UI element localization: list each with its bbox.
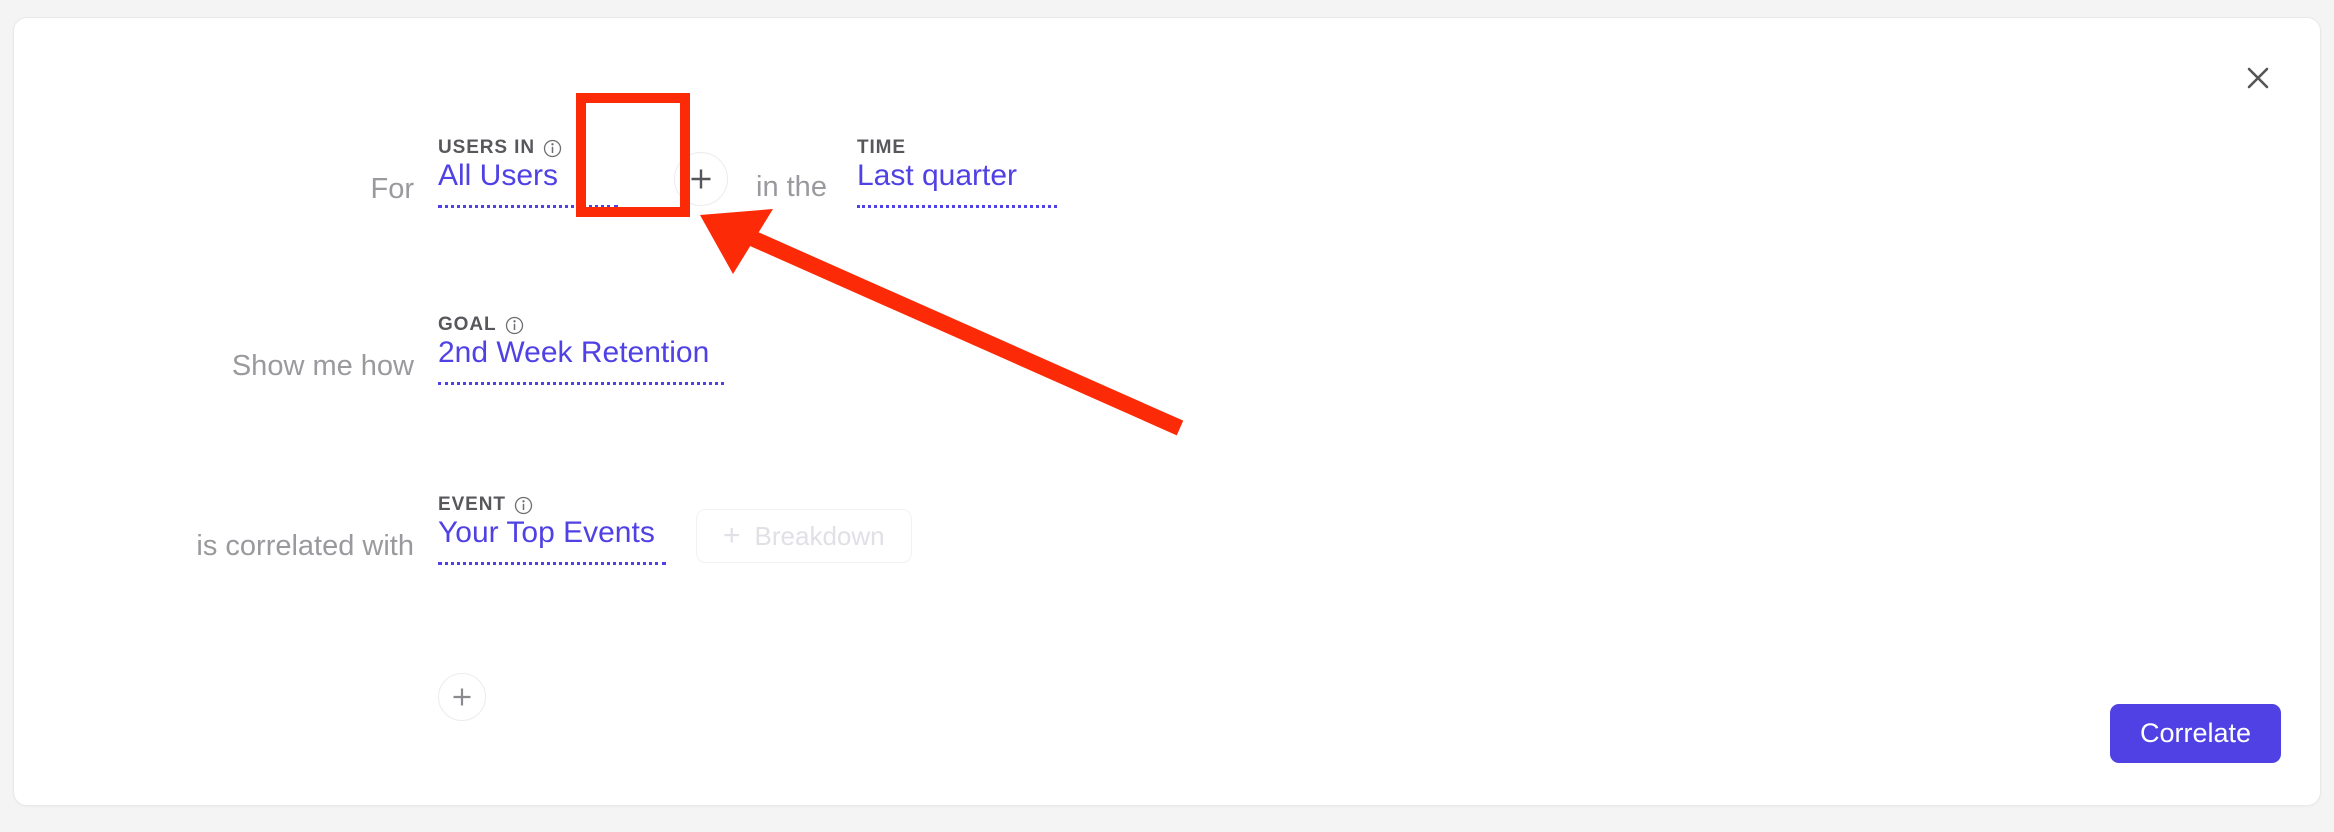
field-label-goal-text: GOAL bbox=[438, 314, 497, 336]
correlation-query-card: For USERS IN All Users bbox=[13, 17, 2321, 806]
field-value-goal[interactable]: 2nd Week Retention bbox=[438, 334, 724, 385]
field-value-time[interactable]: Last quarter bbox=[857, 157, 1057, 208]
correlate-button[interactable]: Correlate bbox=[2110, 704, 2281, 763]
field-value-event[interactable]: Your Top Events bbox=[438, 514, 666, 565]
query-row-users: For USERS IN All Users bbox=[14, 146, 1057, 208]
field-time: TIME Last quarter bbox=[857, 157, 1057, 208]
field-label-time-text: TIME bbox=[857, 137, 906, 159]
query-row-event: is correlated with EVENT Your Top Events bbox=[14, 503, 912, 565]
row-prose-show-me-how: Show me how bbox=[14, 347, 438, 385]
field-goal: GOAL 2nd Week Retention bbox=[438, 334, 724, 385]
info-icon[interactable] bbox=[505, 316, 524, 335]
field-label-users-in: USERS IN bbox=[438, 137, 562, 159]
plus-icon bbox=[450, 685, 474, 709]
field-label-time: TIME bbox=[857, 137, 906, 159]
field-label-goal: GOAL bbox=[438, 314, 524, 336]
add-breakdown-label: Breakdown bbox=[755, 521, 885, 552]
row-prose-for: For bbox=[14, 170, 438, 208]
add-users-filter-button[interactable] bbox=[674, 152, 728, 206]
field-label-event: EVENT bbox=[438, 494, 533, 516]
close-icon-glyph bbox=[2244, 64, 2272, 92]
info-icon[interactable] bbox=[514, 496, 533, 515]
query-row-goal: Show me how GOAL 2nd Week Retention bbox=[14, 323, 724, 385]
field-label-event-text: EVENT bbox=[438, 494, 506, 516]
row-prose-is-correlated-with: is correlated with bbox=[14, 527, 438, 565]
add-query-row-button[interactable] bbox=[438, 673, 486, 721]
add-query-row-wrapper bbox=[438, 673, 486, 721]
info-icon[interactable] bbox=[543, 139, 562, 158]
field-users-in: USERS IN All Users bbox=[438, 157, 618, 208]
plus-icon: + bbox=[723, 521, 741, 551]
field-value-users-in[interactable]: All Users bbox=[438, 157, 618, 208]
field-event: EVENT Your Top Events bbox=[438, 514, 666, 565]
close-icon[interactable] bbox=[2236, 56, 2280, 100]
field-label-users-in-text: USERS IN bbox=[438, 137, 535, 159]
add-breakdown-button[interactable]: + Breakdown bbox=[696, 509, 912, 563]
row-connector-in-the: in the bbox=[756, 168, 827, 208]
plus-icon bbox=[688, 166, 714, 192]
screen-root: For USERS IN All Users bbox=[0, 0, 2334, 832]
